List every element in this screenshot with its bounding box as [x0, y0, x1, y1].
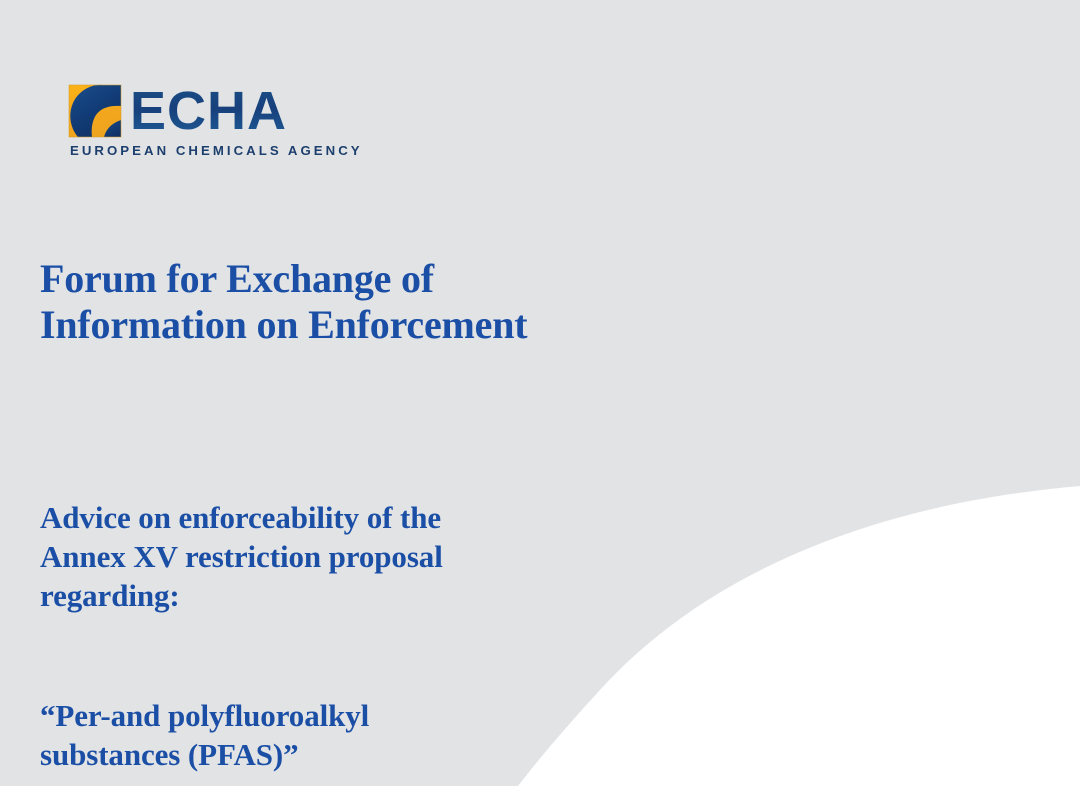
echa-logo[interactable]: ECHA EUROPEAN CHEMICALS AGENCY [68, 84, 358, 158]
slide-quoted-subject: “Per-and polyfluoroalkyl substances (PFA… [40, 696, 660, 774]
echa-tagline: EUROPEAN CHEMICALS AGENCY [70, 143, 358, 158]
slide-title: Forum for Exchange of Information on Enf… [40, 256, 760, 348]
echa-wordmark: ECHA [130, 84, 287, 138]
logo-row: ECHA [68, 84, 358, 138]
title-slide: ECHA EUROPEAN CHEMICALS AGENCY Forum for… [0, 0, 1080, 786]
echa-star-mark-icon [68, 84, 122, 138]
top-gradient-band [0, 0, 1080, 42]
slide-subtitle: Advice on enforceability of the Annex XV… [40, 498, 660, 615]
